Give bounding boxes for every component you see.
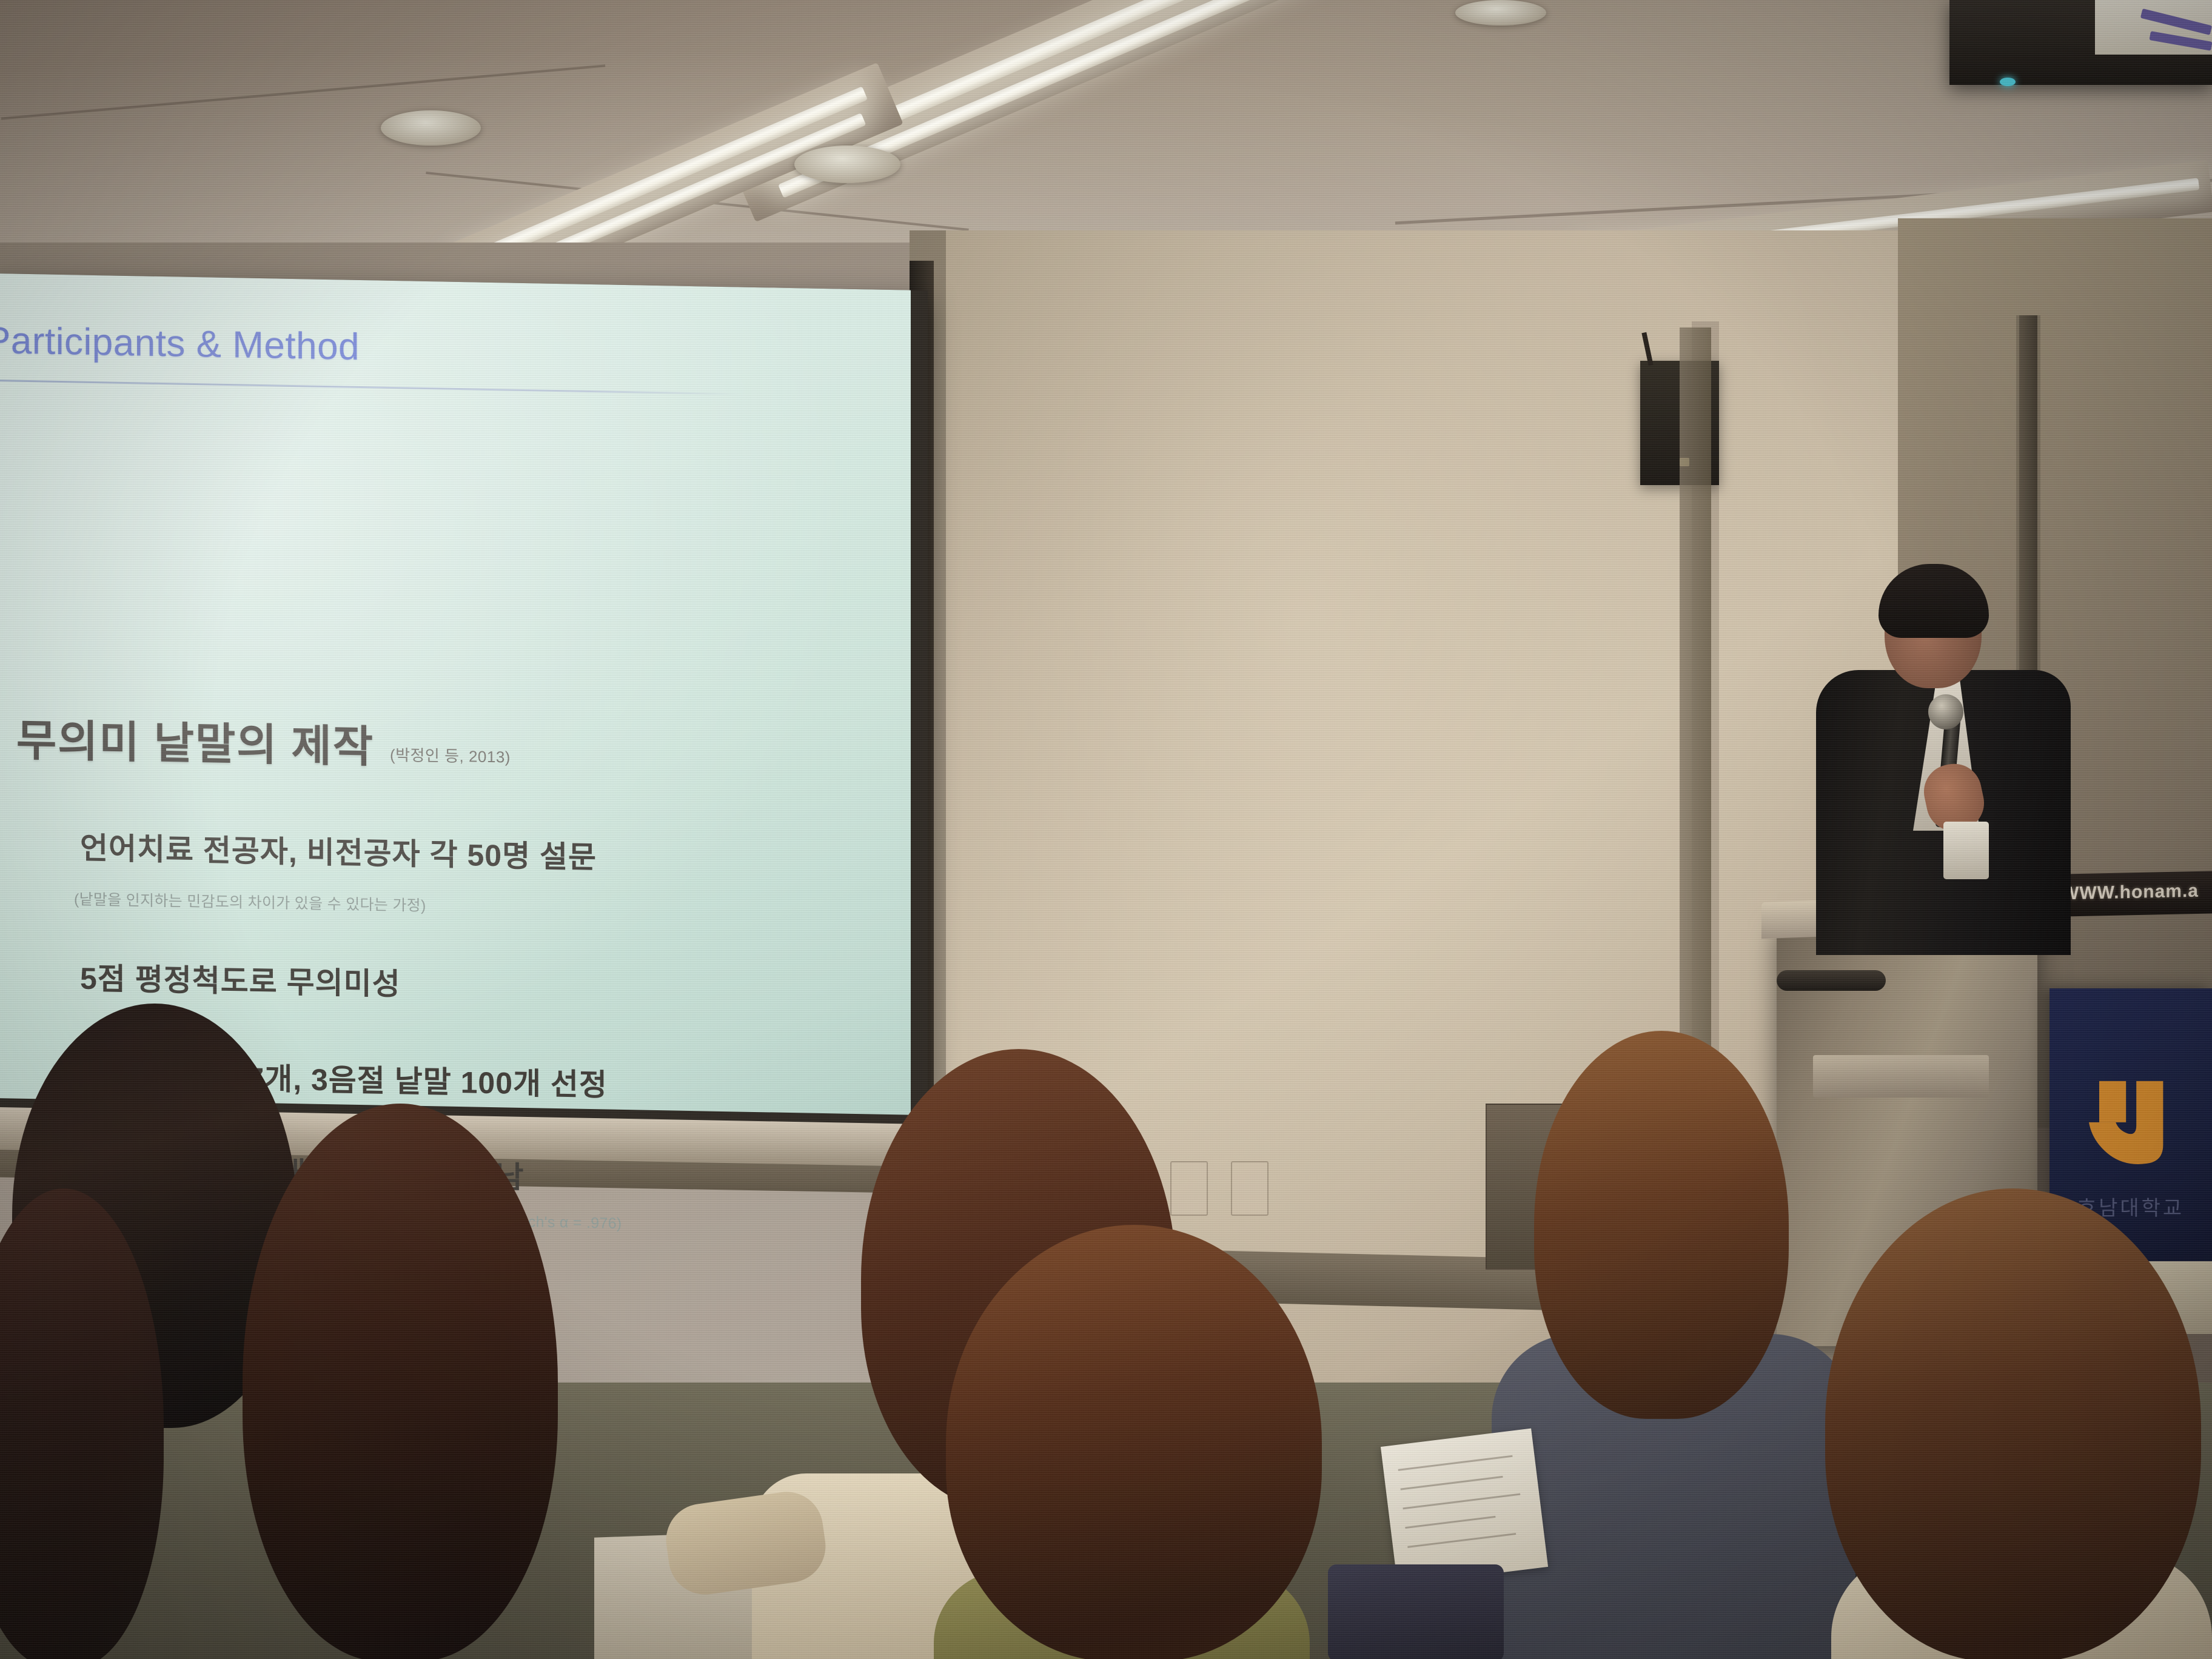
microphone-icon [1928, 694, 1963, 729]
recessed-downlight [794, 146, 900, 183]
slide-heading-row: 무의미 낱말의 제작 (박정인 등, 2013) [16, 705, 511, 777]
projector-power-led [2000, 78, 2016, 86]
speaker-badge [1943, 822, 1989, 879]
recessed-downlight [1455, 0, 1546, 25]
recessed-downlight [381, 110, 481, 146]
wall-outlet-plate[interactable] [1170, 1161, 1208, 1216]
slide-bullet-1: 언어치료 전공자, 비전공자 각 50명 설문 [80, 824, 597, 877]
slide-bullet-2: 5점 평정척도로 무의미성 [80, 954, 401, 1004]
handbag [1328, 1564, 1504, 1659]
audience-head [1825, 1188, 2201, 1659]
slide-title: Participants & Method [0, 319, 471, 371]
podium-website-url: WWW.honam.a [2062, 881, 2199, 905]
presentation-photo-scene: Participants & Method 무의미 낱말의 제작 (박정인 등,… [0, 0, 2212, 1659]
presentation-slide: Participants & Method 무의미 낱말의 제작 (박정인 등,… [0, 273, 911, 1115]
slide-heading: 무의미 낱말의 제작 [16, 705, 374, 775]
slide-heading-citation: (박정인 등, 2013) [390, 743, 511, 777]
audience-head [1534, 1031, 1789, 1419]
handout-booklet [1381, 1429, 1548, 1586]
slide-subnote-1: (낱말을 인지하는 민감도의 차이가 있을 수 있다는 가정) [74, 887, 426, 916]
audience-head [243, 1104, 558, 1659]
audience-head [946, 1225, 1322, 1659]
podium-control-panel[interactable] [1813, 1055, 1989, 1098]
wall-outlet-plate[interactable] [1231, 1161, 1269, 1216]
podium-microphone-base [1777, 970, 1886, 991]
projection-screen: Participants & Method 무의미 낱말의 제작 (박정인 등,… [0, 273, 911, 1115]
university-logo-icon [2079, 1067, 2182, 1173]
slide-title-rule [0, 380, 741, 395]
